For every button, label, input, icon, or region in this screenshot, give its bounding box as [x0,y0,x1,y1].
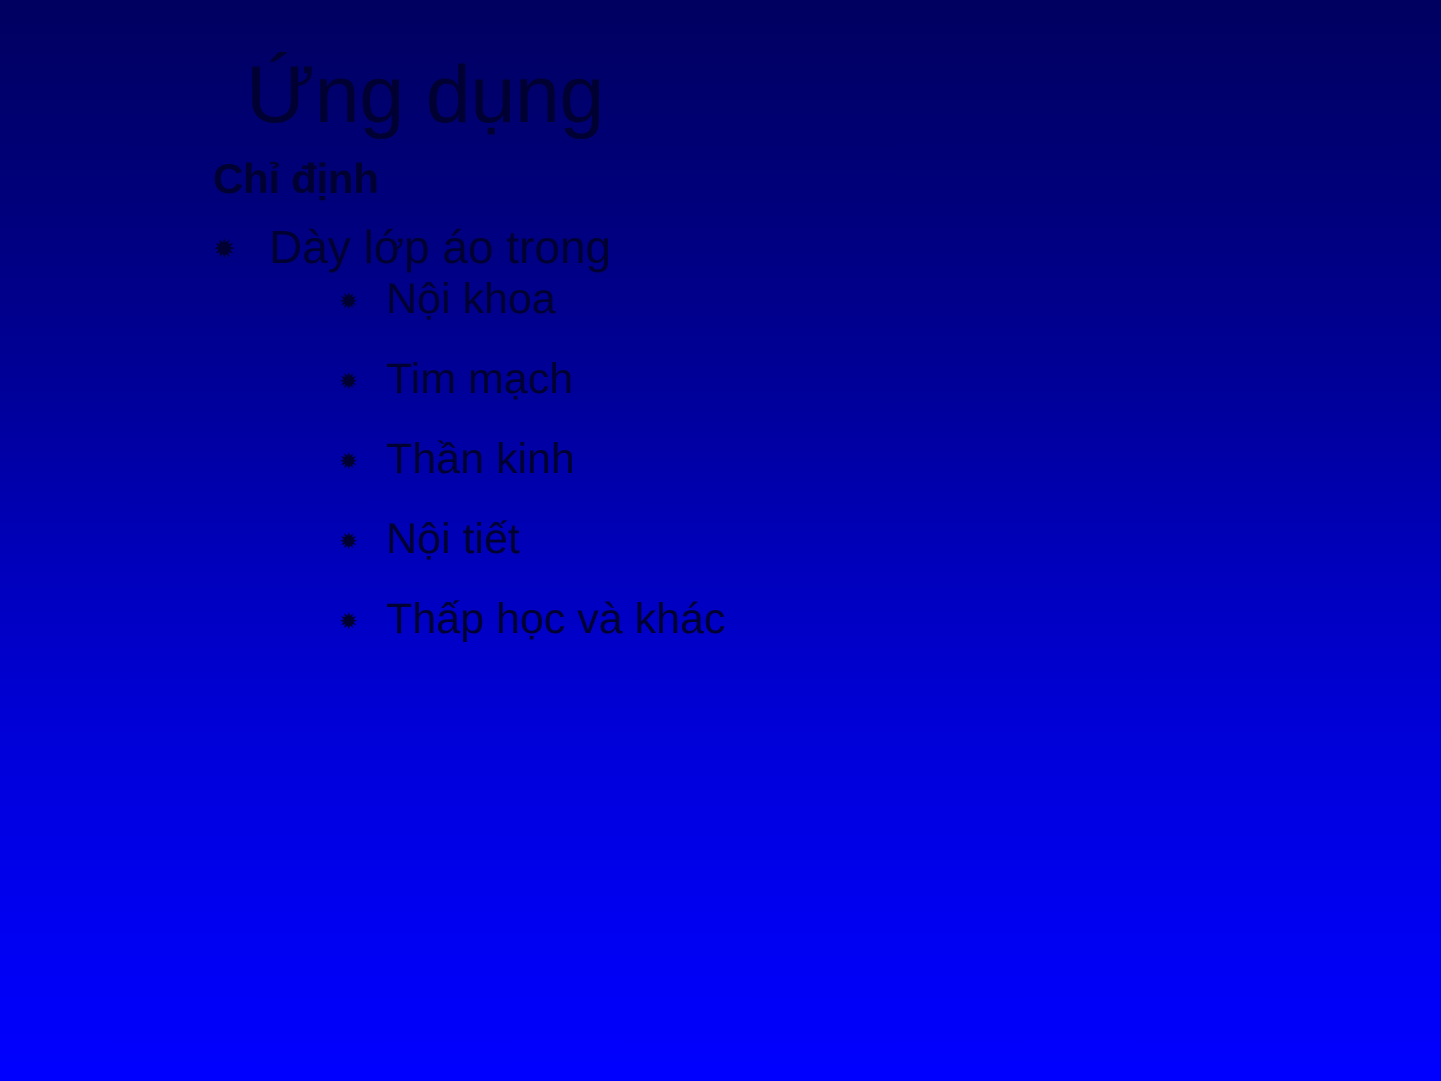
star-bullet-icon: ✹ [339,290,358,313]
list-item-label: Nội khoa [386,278,556,321]
list-item: ✹ Dày lớp áo trong ✹ Nội khoa ✹ Tim mạch… [213,224,1353,641]
list-item: ✹ Nội tiết [339,518,1353,561]
list-item-label: Thấp học và khác [386,598,725,641]
star-bullet-icon: ✹ [339,450,358,473]
slide-canvas: Ứng dụng Chỉ định ✹ Dày lớp áo trong ✹ N… [0,0,1441,1081]
slide-title: Ứng dụng [246,55,604,136]
list-item-label: Nội tiết [386,518,520,561]
star-bullet-icon: ✹ [213,236,236,263]
outline-level-2-list: ✹ Nội khoa ✹ Tim mạch ✹ Thần kinh ✹ Nội … [269,278,1353,641]
list-item: ✹ Thần kinh [339,438,1353,481]
body-subheading: Chỉ định [213,158,1353,200]
outline-level-1-list: ✹ Dày lớp áo trong ✹ Nội khoa ✹ Tim mạch… [213,224,1353,641]
list-item-label: Dày lớp áo trong [269,224,611,270]
star-bullet-icon: ✹ [339,370,358,393]
list-item: ✹ Tim mạch [339,358,1353,401]
list-item: ✹ Thấp học và khác [339,598,1353,641]
slide-body: Chỉ định ✹ Dày lớp áo trong ✹ Nội khoa ✹… [213,158,1353,655]
star-bullet-icon: ✹ [339,530,358,553]
list-item-label: Thần kinh [386,438,575,481]
list-item: ✹ Nội khoa [339,278,1353,321]
star-bullet-icon: ✹ [339,610,358,633]
list-item-label: Tim mạch [386,358,573,401]
